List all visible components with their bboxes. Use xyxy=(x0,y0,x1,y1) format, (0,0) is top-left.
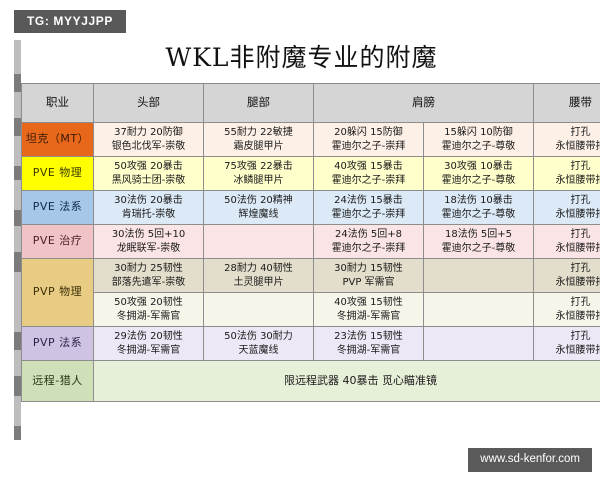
cell-pvp-physical-shoulder-1-a: 30耐力 15韧性 PVP 军需官 xyxy=(314,259,424,293)
table-header-row: 职业 头部 腿部 肩膀 腰带 xyxy=(22,84,600,123)
cell-line-2: 土灵腿甲片 xyxy=(205,276,312,290)
cell-line-1: 23法伤 15韧性 xyxy=(315,330,422,344)
cell-line-1: 打孔 xyxy=(535,228,600,242)
cell-line-1: 50法伤 20精神 xyxy=(205,194,312,208)
header-shoulder: 肩膀 xyxy=(314,84,534,123)
cell-pvp-magic-belt: 打孔 永恒腰带扣 xyxy=(534,327,600,361)
cell-pve-healer-head: 30法伤 5回+10 龙眠联军-崇敬 xyxy=(94,225,204,259)
cell-line-1: 30攻强 10暴击 xyxy=(425,160,532,174)
cell-line-1: 打孔 xyxy=(535,194,600,208)
cell-line-2: 霍迪尔之子-崇拜 xyxy=(315,242,422,256)
cell-line-1: 打孔 xyxy=(535,330,600,344)
cell-line-1: 18法伤 5回+5 xyxy=(425,228,532,242)
cell-line-2: PVP 军需官 xyxy=(315,276,422,290)
cell-line-2: 天蓝魔线 xyxy=(205,344,312,358)
cell-pve-healer-legs xyxy=(204,225,314,259)
header-legs: 腿部 xyxy=(204,84,314,123)
row-label-pve-healer: PVE 治疗 xyxy=(22,225,94,259)
row-label-pvp-magic: PVP 法系 xyxy=(22,327,94,361)
cell-line-1: 24法伤 5回+8 xyxy=(315,228,422,242)
cell-line-1: 15躲闪 10防御 xyxy=(425,126,532,140)
table-row: PVE 物理 50攻强 20暴击 黑风骑士团-崇敬 75攻强 22暴击 冰鳞腿甲… xyxy=(22,157,600,191)
cell-line-2: 黑风骑士团-崇敬 xyxy=(95,174,202,188)
cell-line-1: 30耐力 15韧性 xyxy=(315,262,422,276)
cell-ranged-hunter-merged: 限远程武器 40暴击 觅心瞄准镜 xyxy=(94,361,600,402)
cell-pve-magic-shoulder-2: 18法伤 10暴击 霍迪尔之子-尊敬 xyxy=(424,191,534,225)
rail-segment xyxy=(14,396,21,426)
enchant-table: 职业 头部 腿部 肩膀 腰带 坦克（MT） 37耐力 20防御 银色北伐军-崇敬… xyxy=(21,83,600,402)
cell-line-1: 20躲闪 15防御 xyxy=(315,126,422,140)
cell-line-1: 打孔 xyxy=(535,160,600,174)
cell-pvp-physical-shoulder-2-b xyxy=(424,293,534,327)
rail-segment xyxy=(14,40,21,74)
rail-segment xyxy=(14,226,21,252)
cell-pve-physical-legs: 75攻强 22暴击 冰鳞腿甲片 xyxy=(204,157,314,191)
row-label-pve-magic: PVE 法系 xyxy=(22,191,94,225)
cell-line-1: 30法伤 5回+10 xyxy=(95,228,202,242)
cell-pve-magic-head: 30法伤 20暴击 肯瑞托-崇敬 xyxy=(94,191,204,225)
cell-line-2: 霍迪尔之子-尊敬 xyxy=(425,208,532,222)
cell-pve-healer-shoulder-2: 18法伤 5回+5 霍迪尔之子-尊敬 xyxy=(424,225,534,259)
cell-line-2: 霍迪尔之子-尊敬 xyxy=(425,174,532,188)
cell-pvp-physical-legs-a: 28耐力 40韧性 土灵腿甲片 xyxy=(204,259,314,293)
cell-tank-belt: 打孔 永恒腰带扣 xyxy=(534,123,600,157)
tg-badge: TG: MYYJJPP xyxy=(14,10,126,33)
cell-line-2: 霍迪尔之子-尊敬 xyxy=(425,242,532,256)
row-label-pve-physical: PVE 物理 xyxy=(22,157,94,191)
cell-line-2: 霍迪尔之子-崇拜 xyxy=(315,208,422,222)
left-scroll-rail xyxy=(14,40,21,440)
cell-pvp-physical-head-b: 50攻强 20韧性 冬拥湖-军需官 xyxy=(94,293,204,327)
table-row: 远程-猎人 限远程武器 40暴击 觅心瞄准镜 xyxy=(22,361,600,402)
cell-line-1: 29法伤 20韧性 xyxy=(95,330,202,344)
cell-line-2: 银色北伐军-崇敬 xyxy=(95,140,202,154)
cell-pve-physical-shoulder-1: 40攻强 15暴击 霍迪尔之子-崇拜 xyxy=(314,157,424,191)
cell-line-1: 50法伤 30耐力 xyxy=(205,330,312,344)
cell-line-2: 龙眠联军-崇敬 xyxy=(95,242,202,256)
rail-segment xyxy=(14,136,21,166)
cell-line-1: 50攻强 20韧性 xyxy=(95,296,202,310)
cell-pvp-physical-belt-a: 打孔 永恒腰带扣 xyxy=(534,259,600,293)
cell-pve-magic-legs: 50法伤 20精神 辉煌魔线 xyxy=(204,191,314,225)
cell-line-1: 18法伤 10暴击 xyxy=(425,194,532,208)
cell-tank-shoulder-1: 20躲闪 15防御 霍迪尔之子-崇拜 xyxy=(314,123,424,157)
cell-pve-healer-shoulder-1: 24法伤 5回+8 霍迪尔之子-崇拜 xyxy=(314,225,424,259)
row-label-ranged-hunter: 远程-猎人 xyxy=(22,361,94,402)
cell-line-2: 辉煌魔线 xyxy=(205,208,312,222)
table-row: PVE 法系 30法伤 20暴击 肯瑞托-崇敬 50法伤 20精神 辉煌魔线 2… xyxy=(22,191,600,225)
table-row: 坦克（MT） 37耐力 20防御 银色北伐军-崇敬 55耐力 22敏捷 霜皮腿甲… xyxy=(22,123,600,157)
table-row: PVP 物理 30耐力 25韧性 部落先遣军-崇敬 28耐力 40韧性 土灵腿甲… xyxy=(22,259,600,293)
cell-pvp-magic-head: 29法伤 20韧性 冬拥湖-军需官 xyxy=(94,327,204,361)
cell-pve-magic-shoulder-1: 24法伤 15暴击 霍迪尔之子-崇拜 xyxy=(314,191,424,225)
cell-pve-magic-belt: 打孔 永恒腰带扣 xyxy=(534,191,600,225)
cell-line-2: 部落先遣军-崇敬 xyxy=(95,276,202,290)
cell-pvp-magic-legs: 50法伤 30耐力 天蓝魔线 xyxy=(204,327,314,361)
cell-line-2: 永恒腰带扣 xyxy=(535,174,600,188)
cell-line-2: 霍迪尔之子-崇拜 xyxy=(315,140,422,154)
cell-line-1: 40攻强 15韧性 xyxy=(315,296,422,310)
cell-line-1: 30法伤 20暴击 xyxy=(95,194,202,208)
cell-line-2: 冬拥湖-军需官 xyxy=(315,310,422,324)
cell-pvp-physical-shoulder-2-a xyxy=(424,259,534,293)
row-label-tank: 坦克（MT） xyxy=(22,123,94,157)
cell-line-1: 37耐力 20防御 xyxy=(95,126,202,140)
cell-line-2: 永恒腰带扣 xyxy=(535,276,600,290)
cell-line-1: 75攻强 22暴击 xyxy=(205,160,312,174)
cell-line-2: 霜皮腿甲片 xyxy=(205,140,312,154)
cell-line-2: 冰鳞腿甲片 xyxy=(205,174,312,188)
cell-tank-head: 37耐力 20防御 银色北伐军-崇敬 xyxy=(94,123,204,157)
site-watermark: www.sd-kenfor.com xyxy=(468,448,592,473)
cell-line-2: 冬拥湖-军需官 xyxy=(95,344,202,358)
cell-pve-physical-shoulder-2: 30攻强 10暴击 霍迪尔之子-尊敬 xyxy=(424,157,534,191)
rail-segment xyxy=(14,350,21,376)
cell-line-2: 永恒腰带扣 xyxy=(535,310,600,324)
cell-line-2: 肯瑞托-崇敬 xyxy=(95,208,202,222)
cell-pvp-magic-shoulder-2 xyxy=(424,327,534,361)
cell-pve-physical-head: 50攻强 20暴击 黑风骑士团-崇敬 xyxy=(94,157,204,191)
cell-line-1: 28耐力 40韧性 xyxy=(205,262,312,276)
cell-line-1: 50攻强 20暴击 xyxy=(95,160,202,174)
cell-tank-legs: 55耐力 22敏捷 霜皮腿甲片 xyxy=(204,123,314,157)
cell-line-2: 永恒腰带扣 xyxy=(535,140,600,154)
cell-pvp-physical-head-a: 30耐力 25韧性 部落先遣军-崇敬 xyxy=(94,259,204,293)
rail-segment xyxy=(14,180,21,210)
rail-segment xyxy=(14,272,21,332)
cell-line-1: 24法伤 15暴击 xyxy=(315,194,422,208)
cell-line-2: 霍迪尔之子-尊敬 xyxy=(425,140,532,154)
cell-line-1: 40攻强 15暴击 xyxy=(315,160,422,174)
cell-line-1: 打孔 xyxy=(535,262,600,276)
cell-tank-shoulder-2: 15躲闪 10防御 霍迪尔之子-尊敬 xyxy=(424,123,534,157)
page-title: WKL非附魔专业的附魔 xyxy=(21,31,582,83)
header-profession: 职业 xyxy=(22,84,94,123)
cell-pvp-physical-shoulder-1-b: 40攻强 15韧性 冬拥湖-军需官 xyxy=(314,293,424,327)
header-belt: 腰带 xyxy=(534,84,600,123)
cell-line-2: 冬拥湖-军需官 xyxy=(95,310,202,324)
table-row: PVE 治疗 30法伤 5回+10 龙眠联军-崇敬 24法伤 5回+8 霍迪尔之… xyxy=(22,225,600,259)
cell-pve-healer-belt: 打孔 永恒腰带扣 xyxy=(534,225,600,259)
header-head: 头部 xyxy=(94,84,204,123)
cell-pve-physical-belt: 打孔 永恒腰带扣 xyxy=(534,157,600,191)
cell-line-1: 打孔 xyxy=(535,296,600,310)
cell-pvp-physical-belt-b: 打孔 永恒腰带扣 xyxy=(534,293,600,327)
cell-line-2: 永恒腰带扣 xyxy=(535,344,600,358)
cell-line-1: 30耐力 25韧性 xyxy=(95,262,202,276)
cell-line-1: 打孔 xyxy=(535,126,600,140)
cell-pvp-physical-legs-b xyxy=(204,293,314,327)
rail-segment xyxy=(14,92,21,118)
table-row: 50攻强 20韧性 冬拥湖-军需官 40攻强 15韧性 冬拥湖-军需官 打孔 xyxy=(22,293,600,327)
cell-line-2: 冬拥湖-军需官 xyxy=(315,344,422,358)
table-row: PVP 法系 29法伤 20韧性 冬拥湖-军需官 50法伤 30耐力 天蓝魔线 … xyxy=(22,327,600,361)
row-label-pvp-physical: PVP 物理 xyxy=(22,259,94,327)
spreadsheet-sheet: WKL非附魔专业的附魔 职业 头部 腿部 肩膀 腰带 坦克（MT） xyxy=(21,31,582,402)
cell-line-2: 永恒腰带扣 xyxy=(535,242,600,256)
cell-line-2: 霍迪尔之子-崇拜 xyxy=(315,174,422,188)
cell-line-1: 55耐力 22敏捷 xyxy=(205,126,312,140)
cell-line-2: 永恒腰带扣 xyxy=(535,208,600,222)
cell-pvp-magic-shoulder-1: 23法伤 15韧性 冬拥湖-军需官 xyxy=(314,327,424,361)
